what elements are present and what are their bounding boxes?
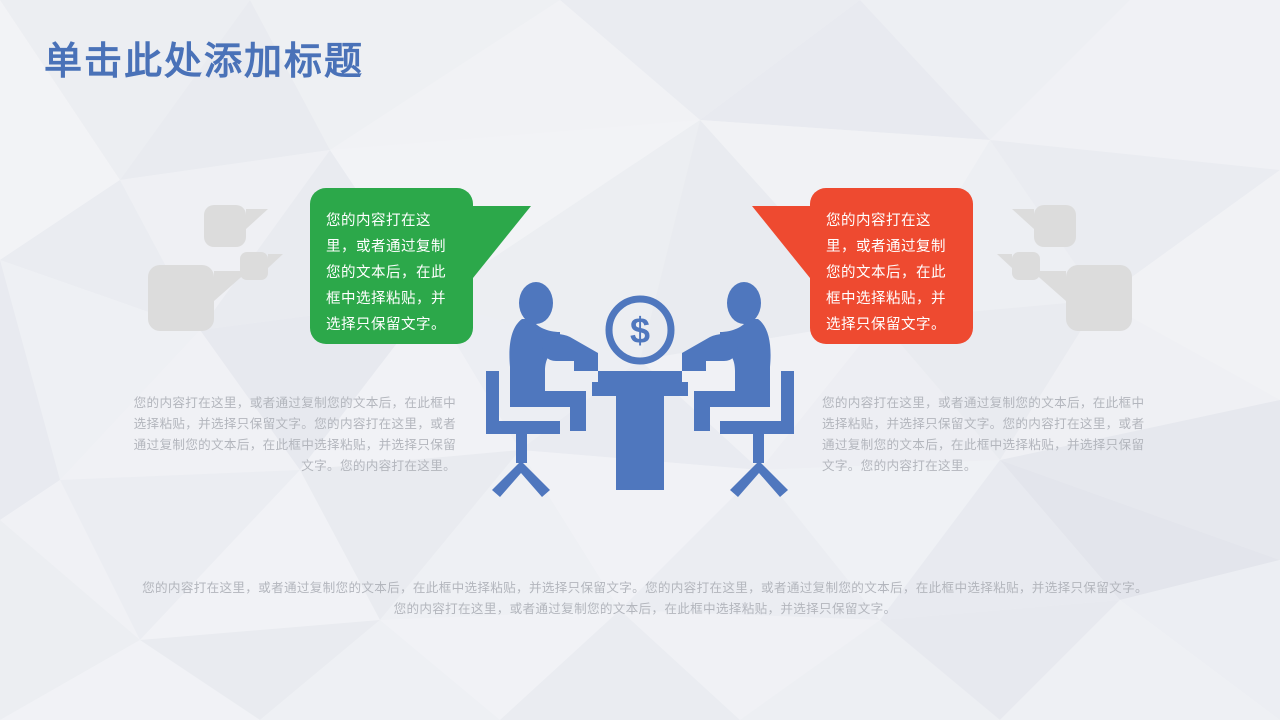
ghost-bubble-tail — [1032, 271, 1066, 301]
ghost-bubble-body — [1034, 205, 1076, 247]
svg-text:$: $ — [630, 310, 650, 351]
ghost-bubble-tail — [246, 209, 268, 229]
ghost-bubble-body — [1066, 265, 1132, 331]
slide-canvas: 单击此处添加标题 您的内容打在这里，或者 — [0, 0, 1280, 720]
dollar-coin-icon: $ — [609, 299, 671, 361]
ghost-bubble-tail — [214, 271, 248, 301]
ghost-bubble-tail — [1012, 209, 1034, 229]
ghost-bubble-tail — [268, 254, 283, 268]
ghost-bubble-left-bottom — [148, 265, 214, 331]
paragraph-left: 您的内容打在这里，或者通过复制您的文本后，在此框中选择粘贴，并选择只保留文字。您… — [130, 393, 456, 477]
illustration-two-people-negotiating: $ — [470, 275, 810, 510]
decor-ghost-bubbles-left — [0, 0, 330, 360]
ghost-bubble-body — [204, 205, 246, 247]
speech-bubble-green-tail — [473, 206, 531, 278]
speech-bubble-red-text: 您的内容打在这里，或者通过复制您的文本后，在此框中选择粘贴，并选择只保留文字。 — [826, 208, 958, 338]
table — [592, 371, 688, 490]
person-left — [486, 282, 598, 497]
speech-bubble-green-text: 您的内容打在这里，或者通过复制您的文本后，在此框中选择粘贴，并选择只保留文字。 — [326, 208, 458, 338]
paragraph-right: 您的内容打在这里，或者通过复制您的文本后，在此框中选择粘贴，并选择只保留文字。您… — [822, 393, 1154, 477]
ghost-bubble-tail — [997, 254, 1012, 268]
speech-bubble-red[interactable]: 您的内容打在这里，或者通过复制您的文本后，在此框中选择粘贴，并选择只保留文字。 — [810, 188, 973, 344]
decor-ghost-bubbles-right — [950, 0, 1280, 360]
ghost-bubble-left-top — [204, 205, 246, 247]
person-right — [682, 282, 794, 497]
speech-bubble-red-tail — [752, 206, 810, 278]
speech-bubble-green[interactable]: 您的内容打在这里，或者通过复制您的文本后，在此框中选择粘贴，并选择只保留文字。 — [310, 188, 473, 344]
paragraph-bottom: 您的内容打在这里，或者通过复制您的文本后，在此框中选择粘贴，并选择只保留文字。您… — [140, 578, 1150, 620]
ghost-bubble-right-top — [1034, 205, 1076, 247]
ghost-bubble-body — [148, 265, 214, 331]
ghost-bubble-right-bottom — [1066, 265, 1132, 331]
